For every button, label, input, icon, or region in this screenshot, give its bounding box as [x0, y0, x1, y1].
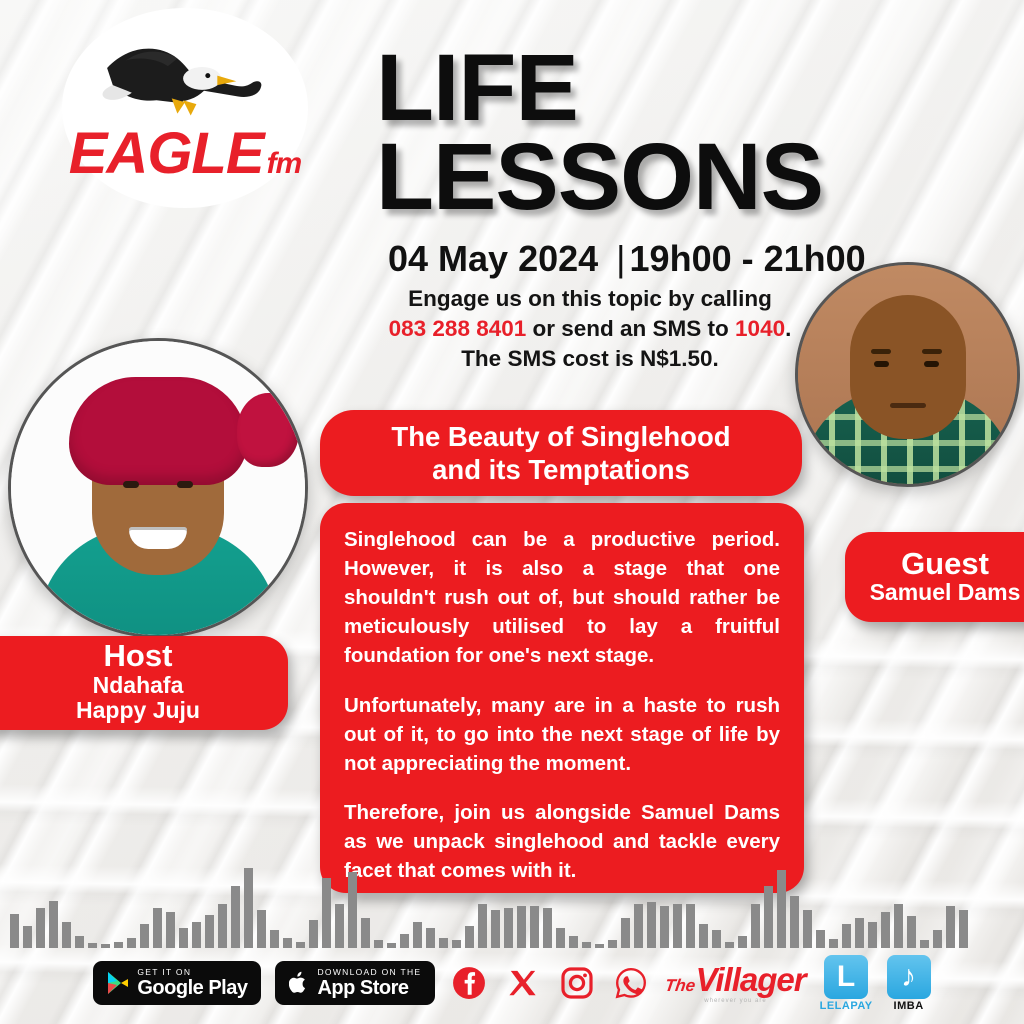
host-avatar	[8, 338, 308, 638]
imba-logo: ♪ IMBA	[887, 955, 931, 1012]
call-phone-number[interactable]: 083 288 8401	[389, 316, 527, 341]
app-store-badge[interactable]: Download on the App Store	[275, 961, 435, 1005]
waveform-bar	[608, 940, 617, 948]
waveform-bar	[62, 922, 71, 948]
logo-suffix: fm	[267, 149, 302, 179]
waveform-bar	[10, 914, 19, 948]
waveform-bar	[738, 936, 747, 948]
description-paragraph: Singlehood can be a productive period. H…	[344, 525, 780, 671]
waveform-bar	[647, 902, 656, 948]
logo-text: EAGLE	[69, 125, 264, 183]
waveform-bar	[790, 896, 799, 948]
waveform-bar	[127, 938, 136, 948]
guest-avatar	[795, 262, 1020, 487]
topic-line-2: and its Temptations	[391, 453, 730, 486]
lelapay-caption: LELAPAY	[820, 1000, 873, 1012]
waveform-bar	[660, 906, 669, 948]
host-name-line-2: Happy Juju	[76, 698, 200, 724]
waveform-bar	[452, 940, 461, 948]
waveform-bar	[231, 886, 240, 948]
waveform-bar	[140, 924, 149, 948]
waveform-bar	[413, 922, 422, 948]
guest-name: Samuel Dams	[870, 580, 1021, 606]
waveform-bar	[478, 904, 487, 948]
waveform-bar	[933, 930, 942, 948]
engage-line-2-mid: or send an SMS to	[526, 316, 735, 341]
sms-short-code[interactable]: 1040	[735, 316, 785, 341]
lelapay-mark: L	[824, 955, 868, 999]
waveform-bar	[920, 940, 929, 948]
waveform-bar	[491, 910, 500, 948]
waveform-bar	[543, 908, 552, 948]
villager-the: The	[664, 977, 697, 994]
google-play-label: Google Play	[137, 978, 247, 998]
waveform-bar	[309, 920, 318, 948]
host-role-label: Host	[104, 640, 173, 673]
waveform-bar	[959, 910, 968, 948]
description-panel: Singlehood can be a productive period. H…	[320, 503, 804, 893]
x-twitter-icon[interactable]	[503, 963, 543, 1003]
engage-line-1: Engage us on this topic by calling	[330, 284, 850, 314]
waveform-bar	[348, 872, 357, 948]
waveform-bar	[907, 916, 916, 948]
waveform-bar	[829, 939, 838, 948]
footer-bar: GET IT ON Google Play Download on the Ap…	[0, 948, 1024, 1018]
waveform-bar	[621, 918, 630, 948]
description-paragraph: Unfortunately, many are in a haste to ru…	[344, 691, 780, 778]
facebook-icon[interactable]	[449, 963, 489, 1003]
waveform-bar	[569, 936, 578, 948]
google-play-icon	[107, 971, 129, 995]
apple-icon	[289, 971, 309, 995]
waveform-bar	[751, 904, 760, 948]
whatsapp-icon[interactable]	[611, 963, 651, 1003]
waveform-bar	[855, 918, 864, 948]
engagement-instructions: Engage us on this topic by calling 083 2…	[330, 284, 850, 374]
waveform-bar	[868, 922, 877, 948]
topic-line-1: The Beauty of Singlehood	[391, 420, 730, 453]
engage-line-2-end: .	[785, 316, 791, 341]
title-line-2: LESSONS	[376, 133, 936, 222]
datetime-separator: |	[616, 238, 625, 280]
lelapay-logo: L LELAPAY	[820, 955, 873, 1012]
waveform-bar	[166, 912, 175, 948]
waveform-bar	[465, 926, 474, 948]
waveform-bar	[153, 908, 162, 948]
topic-banner: The Beauty of Singlehood and its Temptat…	[320, 410, 802, 496]
waveform-bar	[777, 870, 786, 948]
host-name-badge: Host Ndahafa Happy Juju	[0, 636, 288, 730]
waveform-bar	[842, 924, 851, 948]
waveform-bar	[361, 918, 370, 948]
poster-canvas: EAGLEfm LIFE LESSONS 04 May 2024 | 19h00…	[0, 0, 1024, 1024]
guest-name-badge: Guest Samuel Dams	[845, 532, 1024, 622]
waveform-bar	[75, 936, 84, 948]
villager-name: Villager	[696, 963, 806, 996]
app-store-label: App Store	[317, 978, 421, 998]
waveform-bar	[946, 906, 955, 948]
waveform-bar	[673, 904, 682, 948]
imba-music-note-icon: ♪	[887, 955, 931, 999]
waveform-bar	[36, 908, 45, 948]
waveform-bar	[816, 930, 825, 948]
guest-role-label: Guest	[901, 548, 989, 581]
waveform-bar	[374, 940, 383, 948]
waveform-bar	[179, 928, 188, 948]
villager-tagline: wherever you are	[704, 998, 766, 1004]
waveform-bar	[283, 938, 292, 948]
station-logo-wordmark: EAGLEfm	[69, 125, 301, 183]
waveform-bar	[803, 910, 812, 948]
waveform-bar	[686, 904, 695, 948]
instagram-icon[interactable]	[557, 963, 597, 1003]
waveform-bar	[530, 906, 539, 948]
waveform-bar	[335, 904, 344, 948]
host-headwrap	[69, 377, 247, 485]
waveform-bar	[322, 878, 331, 948]
waveform-bar	[894, 904, 903, 948]
waveform-bar	[192, 922, 201, 948]
station-logo: EAGLEfm	[62, 8, 308, 208]
waveform-bar	[426, 928, 435, 948]
imba-caption: IMBA	[894, 1000, 924, 1012]
audio-waveform	[0, 848, 1024, 948]
google-play-small-label: GET IT ON	[137, 968, 247, 977]
page-title: LIFE LESSONS	[376, 44, 936, 223]
waveform-bar	[439, 938, 448, 948]
waveform-bar	[218, 904, 227, 948]
waveform-bar	[881, 912, 890, 948]
waveform-bar	[556, 928, 565, 948]
google-play-badge[interactable]: GET IT ON Google Play	[93, 961, 261, 1005]
waveform-bar	[699, 924, 708, 948]
waveform-bar	[517, 906, 526, 948]
waveform-bar	[634, 904, 643, 948]
waveform-bar	[712, 930, 721, 948]
villager-logo: The Villager wherever you are	[665, 963, 805, 1004]
engage-line-2: 083 288 8401 or send an SMS to 1040.	[330, 314, 850, 344]
host-name-line-1: Ndahafa	[93, 673, 184, 699]
waveform-bar	[270, 930, 279, 948]
waveform-bar	[49, 901, 58, 948]
waveform-bar	[257, 910, 266, 948]
engage-line-3: The SMS cost is N$1.50.	[330, 344, 850, 374]
waveform-bar	[205, 915, 214, 948]
waveform-bar	[244, 868, 253, 948]
show-date: 04 May 2024	[388, 238, 598, 280]
waveform-bar	[400, 934, 409, 948]
waveform-bar	[764, 886, 773, 948]
waveform-bar	[23, 926, 32, 948]
waveform-bar	[504, 908, 513, 948]
app-store-small-label: Download on the	[317, 968, 421, 977]
